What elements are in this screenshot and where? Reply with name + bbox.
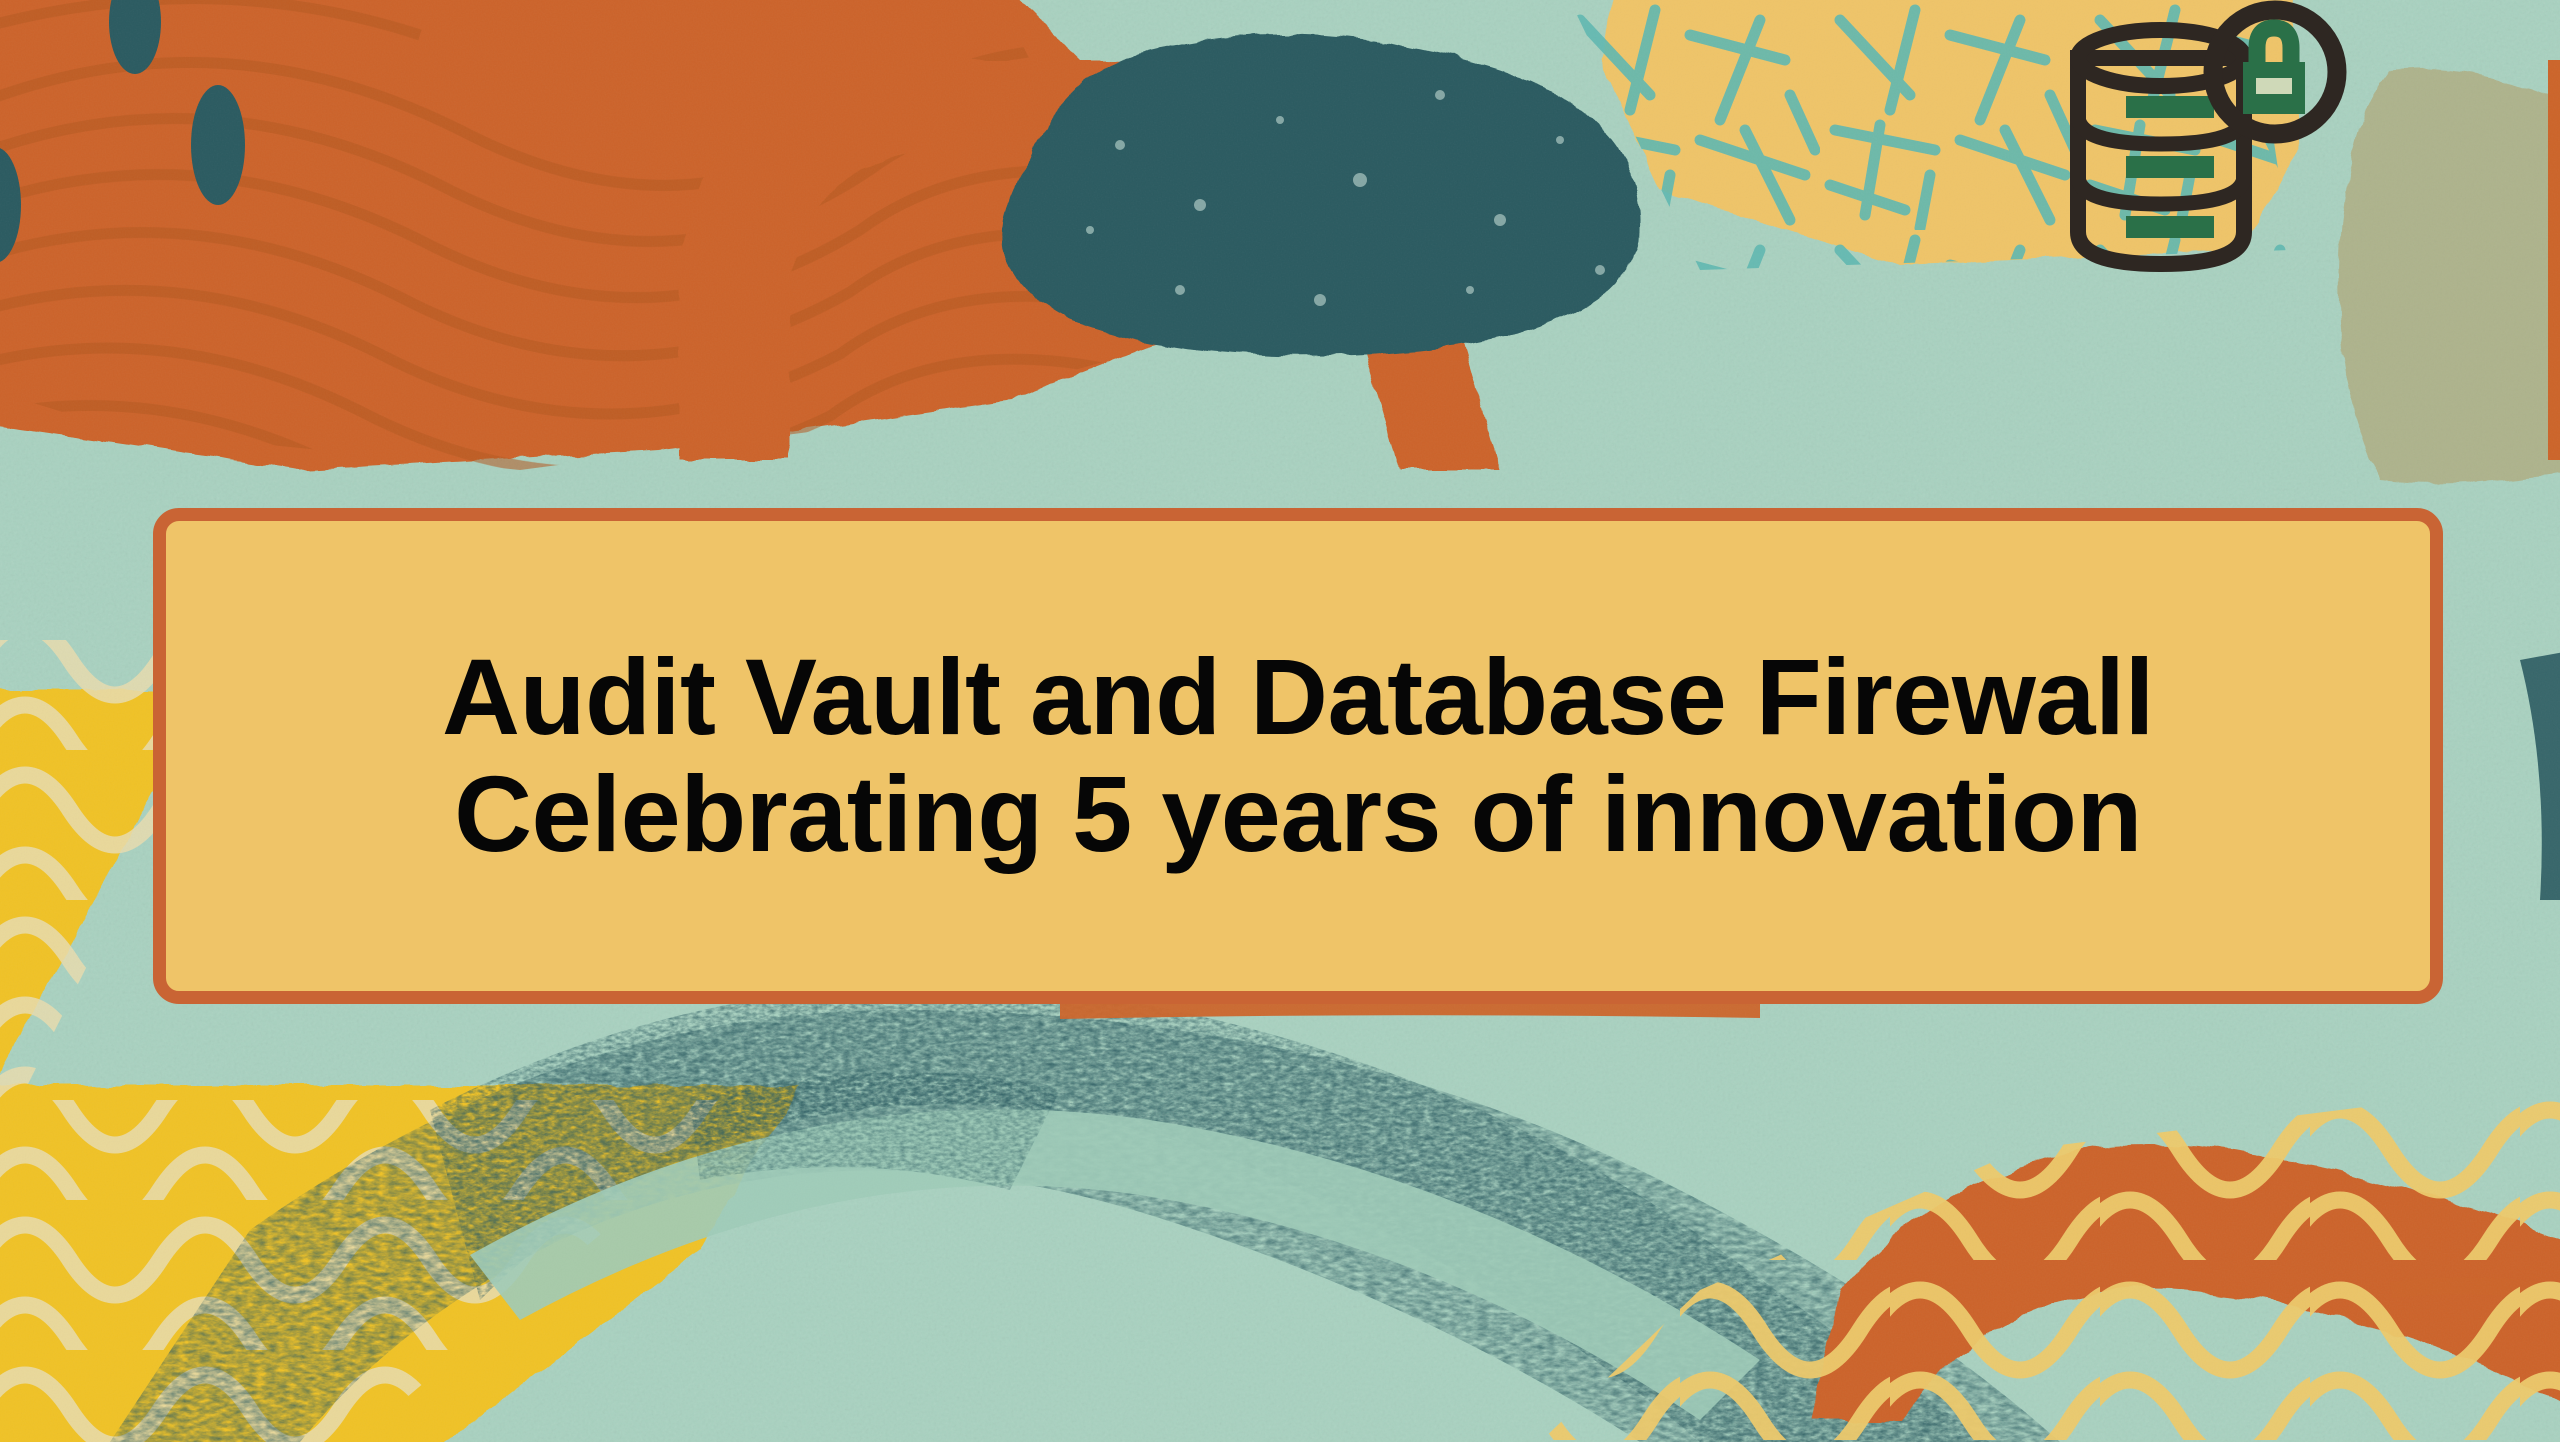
title-line-2: Celebrating 5 years of innovation: [454, 756, 2142, 873]
data-bar: [2126, 216, 2214, 238]
title-card: Audit Vault and Database Firewall Celebr…: [153, 508, 2443, 1004]
data-bar: [2126, 156, 2214, 178]
poster-canvas: Audit Vault and Database Firewall Celebr…: [0, 0, 2560, 1442]
title-line-1: Audit Vault and Database Firewall: [442, 639, 2154, 756]
database-lock-icon: [2060, 10, 2350, 295]
data-bar: [2126, 96, 2214, 118]
